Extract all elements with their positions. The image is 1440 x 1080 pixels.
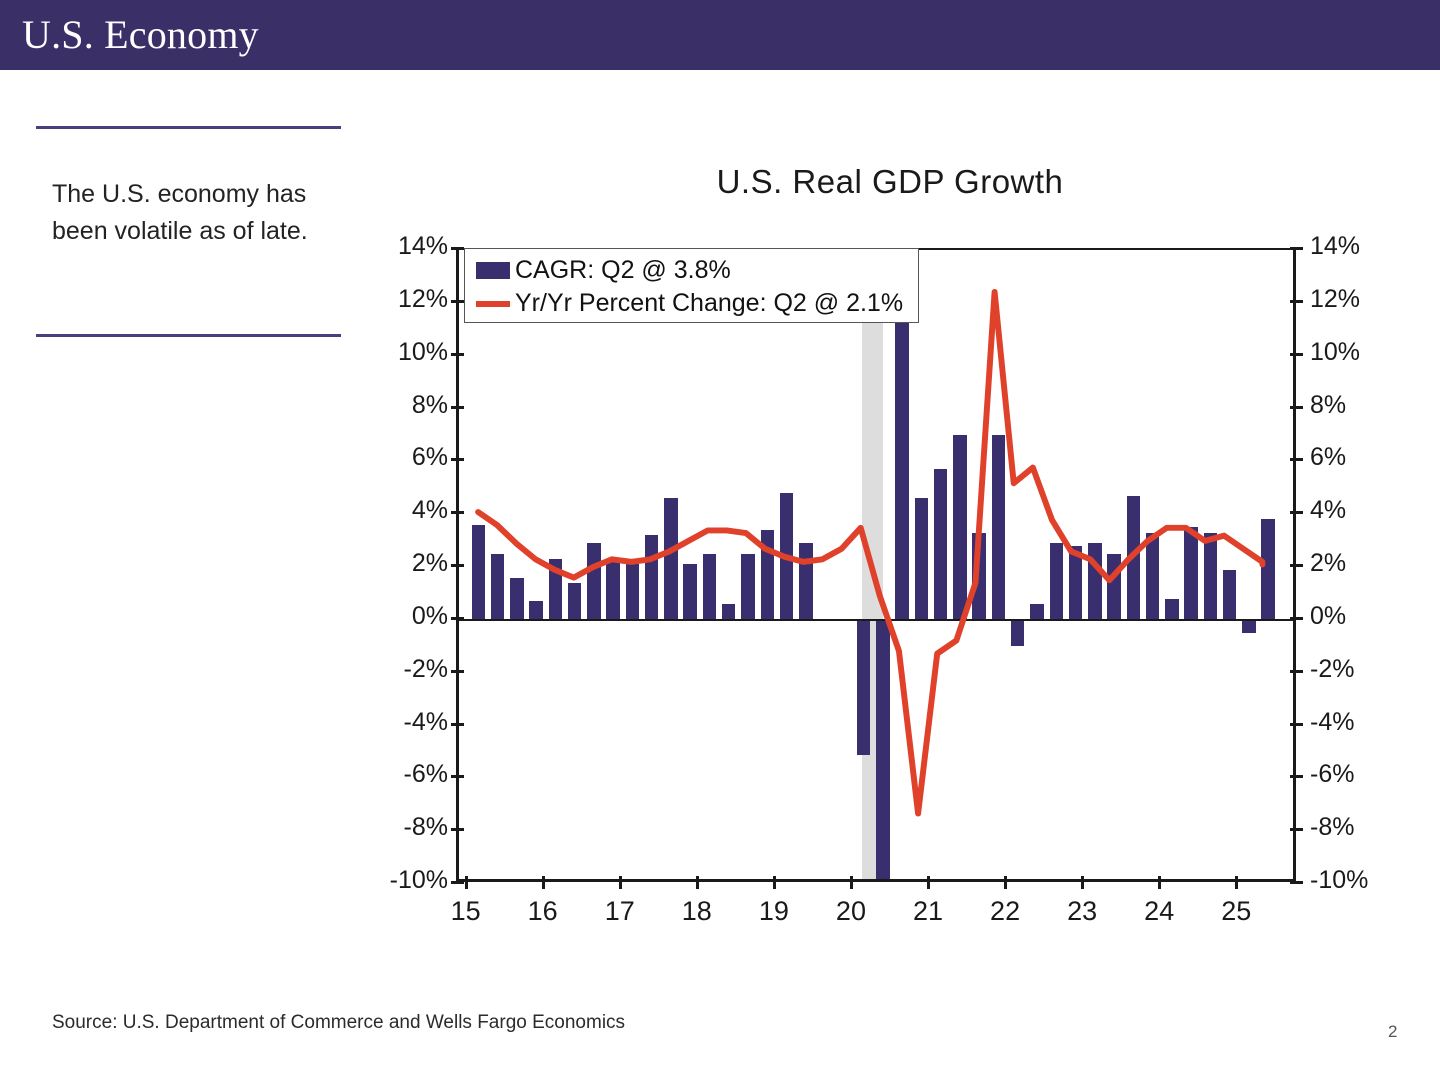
ytick-label-right: 10% [1310,338,1400,367]
page-number: 2 [1388,1022,1397,1042]
page-title: U.S. Economy [22,11,259,59]
ytick-label-right: 2% [1310,549,1400,578]
ytick-left-12% [451,300,464,303]
ytick-left-2% [451,564,464,567]
plot-inner [459,250,1293,879]
chart-legend: CAGR: Q2 @ 3.8% Yr/Yr Percent Change: Q2… [464,248,919,323]
legend-entry-bar: CAGR: Q2 @ 3.8% [476,254,907,287]
ytick-label-left: 4% [366,496,448,525]
ytick-left--10% [451,881,464,884]
ytick-label-right: -8% [1310,813,1400,842]
ytick-label-left: -4% [366,708,448,737]
ytick-label-left: -8% [366,813,448,842]
ytick-label-left: 14% [366,232,448,261]
ytick-label-left: 0% [366,602,448,631]
xtick-16 [542,876,545,889]
caption-rule-bottom [36,334,341,337]
xtick-label-17: 17 [590,896,650,927]
ytick-left-0% [451,617,464,620]
caption-rule-top [36,126,341,129]
ytick-left--4% [451,723,464,726]
chart-title: U.S. Real GDP Growth [370,163,1410,201]
ytick-label-left: -6% [366,760,448,789]
xtick-24 [1158,876,1161,889]
ytick-right-14% [1290,247,1303,250]
ytick-label-left: 6% [366,443,448,472]
ytick-label-right: 14% [1310,232,1400,261]
legend-line-label: Yr/Yr Percent Change: Q2 @ 2.1% [515,289,903,318]
xtick-17 [619,876,622,889]
xtick-21 [927,876,930,889]
xtick-label-23: 23 [1052,896,1112,927]
ytick-right-6% [1290,458,1303,461]
ytick-right-12% [1290,300,1303,303]
source-note: Source: U.S. Department of Commerce and … [52,1012,625,1034]
ytick-label-left: 8% [366,391,448,420]
ytick-label-right: -10% [1310,866,1400,895]
ytick-label-right: -4% [1310,708,1400,737]
ytick-right--8% [1290,828,1303,831]
xtick-label-15: 15 [436,896,496,927]
xtick-label-25: 25 [1206,896,1266,927]
ytick-label-left: -2% [366,655,448,684]
xtick-20 [850,876,853,889]
xtick-label-21: 21 [898,896,958,927]
xtick-label-22: 22 [975,896,1035,927]
caption-text: The U.S. economy has been volatile as of… [52,176,342,250]
legend-bar-swatch-icon [476,262,510,279]
plot-area [456,248,1296,882]
ytick-left-10% [451,353,464,356]
ytick-right-10% [1290,353,1303,356]
ytick-label-right: 12% [1310,285,1400,314]
ytick-right--6% [1290,775,1303,778]
xtick-label-16: 16 [513,896,573,927]
ytick-label-left: -10% [366,866,448,895]
xtick-label-20: 20 [821,896,881,927]
legend-entry-line: Yr/Yr Percent Change: Q2 @ 2.1% [476,287,907,320]
xtick-25 [1235,876,1238,889]
ytick-right-2% [1290,564,1303,567]
ytick-left--2% [451,670,464,673]
ytick-label-right: -2% [1310,655,1400,684]
xtick-15 [465,876,468,889]
yoy-line-series [459,250,1293,879]
xtick-18 [696,876,699,889]
ytick-left-8% [451,406,464,409]
ytick-right--10% [1290,881,1303,884]
xtick-22 [1004,876,1007,889]
ytick-label-right: 8% [1310,391,1400,420]
ytick-label-left: 2% [366,549,448,578]
ytick-right-8% [1290,406,1303,409]
ytick-left--6% [451,775,464,778]
ytick-left-4% [451,511,464,514]
ytick-left-6% [451,458,464,461]
legend-bar-label: CAGR: Q2 @ 3.8% [515,256,731,285]
xtick-label-18: 18 [667,896,727,927]
ytick-label-right: 4% [1310,496,1400,525]
ytick-left-14% [451,247,464,250]
ytick-right--2% [1290,670,1303,673]
ytick-label-right: 6% [1310,443,1400,472]
yoy-line-path [478,292,1262,814]
ytick-label-left: 10% [366,338,448,367]
legend-line-swatch-icon [476,301,510,307]
ytick-label-right: -6% [1310,760,1400,789]
ytick-label-left: 12% [366,285,448,314]
ytick-right--4% [1290,723,1303,726]
xtick-label-24: 24 [1129,896,1189,927]
ytick-right-0% [1290,617,1303,620]
ytick-left--8% [451,828,464,831]
ytick-right-4% [1290,511,1303,514]
xtick-label-19: 19 [744,896,804,927]
xtick-19 [773,876,776,889]
ytick-label-right: 0% [1310,602,1400,631]
xtick-23 [1081,876,1084,889]
